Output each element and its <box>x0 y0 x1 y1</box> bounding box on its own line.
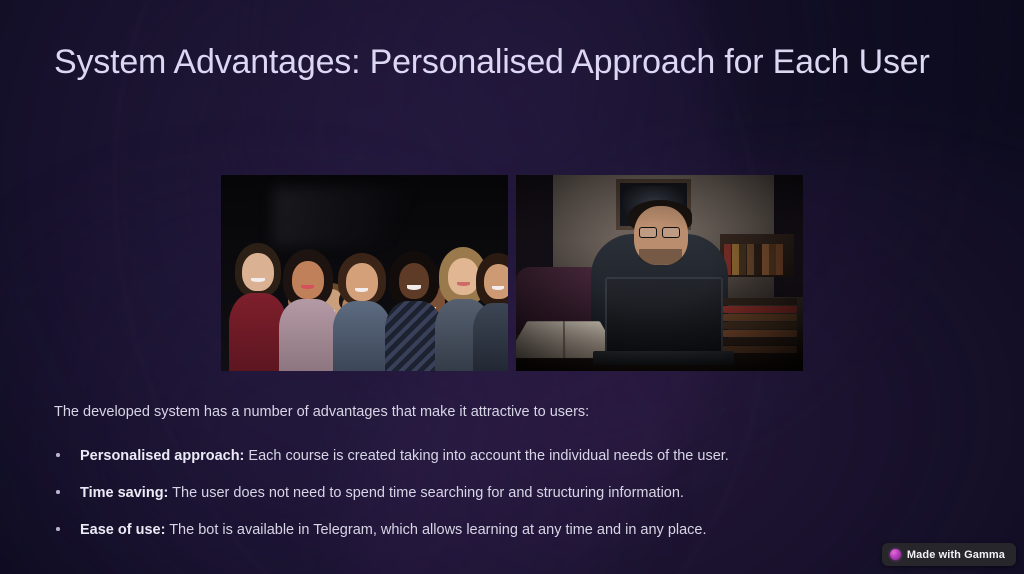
person-front-2 <box>279 249 339 371</box>
list-item-text: The user does not need to spend time sea… <box>168 485 684 501</box>
head <box>484 264 508 299</box>
head <box>292 261 324 299</box>
list-item: Ease of use: The bot is available in Tel… <box>54 520 954 541</box>
smile <box>301 285 314 289</box>
head <box>399 263 429 299</box>
photo-group-of-students <box>221 175 508 371</box>
person-front-3 <box>333 253 391 371</box>
body <box>333 301 391 371</box>
presentation-slide: System Advantages: Personalised Approach… <box>0 0 1024 574</box>
list-item-text: Each course is created taking into accou… <box>244 448 728 464</box>
smile <box>407 285 421 290</box>
head <box>346 263 378 301</box>
smile <box>355 288 368 292</box>
list-item: Time saving: The user does not need to s… <box>54 483 954 504</box>
bullet-dot-icon <box>56 527 60 531</box>
photo-light-beam <box>273 187 457 246</box>
made-with-gamma-badge[interactable]: Made with Gamma <box>882 543 1016 566</box>
gamma-orb-icon <box>890 549 901 560</box>
bullet-dot-icon <box>56 453 60 457</box>
intro-paragraph: The developed system has a number of adv… <box>54 402 894 423</box>
made-with-gamma-label: Made with Gamma <box>907 549 1005 561</box>
photo-student-with-laptop <box>516 175 803 371</box>
person-front-6 <box>473 253 508 371</box>
image-row <box>221 175 803 371</box>
bullet-dot-icon <box>56 490 60 494</box>
list-item-label: Ease of use: <box>80 522 165 538</box>
smile <box>251 278 265 282</box>
list-item-label: Personalised approach: <box>80 448 244 464</box>
body <box>473 303 508 371</box>
list-item-text: The bot is available in Telegram, which … <box>165 522 706 538</box>
list-item: Personalised approach: Each course is cr… <box>54 446 954 467</box>
smile <box>457 282 470 286</box>
advantages-list: Personalised approach: Each course is cr… <box>54 446 954 541</box>
slide-title: System Advantages: Personalised Approach… <box>54 40 934 84</box>
body <box>279 299 339 371</box>
smile <box>492 286 504 290</box>
head <box>242 253 274 291</box>
photo-vignette <box>516 175 803 371</box>
list-item-label: Time saving: <box>80 485 168 501</box>
